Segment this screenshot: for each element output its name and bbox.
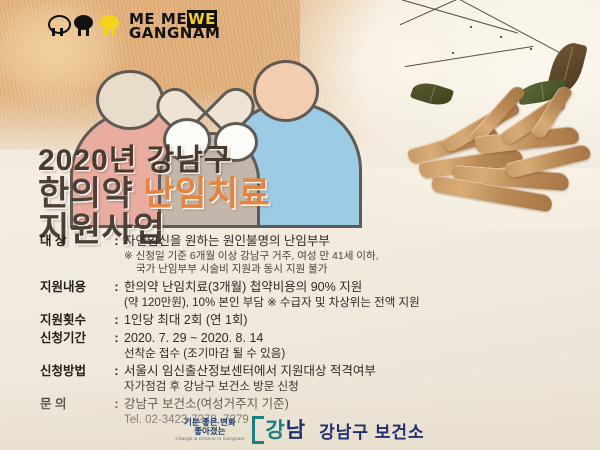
detail-row-period: 신청기간 : 2020. 7. 29 ~ 2020. 8. 14 bbox=[40, 331, 580, 346]
detail-value-count: 1인당 최대 2회 (연 1회) bbox=[121, 313, 248, 328]
leaf-vein bbox=[429, 86, 435, 102]
detail-row-support: 지원내용 : 한의약 난임치료(3개월) 첩약비용의 90% 지원 bbox=[40, 280, 580, 295]
person-solid-black-icon bbox=[74, 15, 93, 37]
detail-label-count: 지원횟수 bbox=[40, 313, 112, 328]
detail-colon: : bbox=[112, 364, 121, 379]
detail-label-target: 대 상 bbox=[40, 234, 112, 249]
branch-node-1 bbox=[470, 26, 472, 28]
title-highlight-part: 난임치료 bbox=[143, 175, 270, 213]
poster-canvas: ME MEWE GANGNAM 2020년 강남구 한의약 난임치료 지원사업 … bbox=[0, 0, 600, 450]
slogan-line-2: 좋아졌는 bbox=[175, 427, 244, 436]
detail-label-method: 신청방법 bbox=[40, 364, 112, 379]
detail-subline-period: 선착순 접수 (조기마감 될 수 있음) bbox=[40, 347, 580, 361]
logo-char-gang: 강 bbox=[265, 420, 284, 441]
title-plain-part: 한의약 bbox=[38, 175, 143, 213]
logo-wordmark: ME MEWE GANGNAM bbox=[129, 12, 220, 41]
person-head bbox=[74, 15, 93, 30]
detail-value-target: 자연임신을 원하는 원인불명의 난임부부 bbox=[121, 234, 330, 249]
detail-subline-support: (약 120만원), 10% 본인 부담 ※ 수급자 및 차상위는 전액 지원 bbox=[40, 296, 580, 310]
health-center-name: 강남구 보건소 bbox=[319, 418, 425, 443]
detail-row-method: 신청방법 : 서울시 임신출산정보센터에서 지원대상 적격여부 bbox=[40, 364, 580, 379]
branch-node-4 bbox=[452, 52, 454, 54]
person-head bbox=[100, 15, 119, 30]
person-leg bbox=[112, 28, 115, 36]
detail-colon: : bbox=[112, 313, 121, 328]
detail-value-method: 서울시 임신출산정보센터에서 지원대상 적격여부 bbox=[121, 364, 376, 379]
person-leg bbox=[104, 28, 107, 36]
gangnam-logo-mark: 강 남 bbox=[252, 416, 305, 444]
detail-value-period: 2020. 7. 29 ~ 2020. 8. 14 bbox=[121, 331, 263, 346]
branch-node-2 bbox=[500, 36, 502, 38]
logo-line-2: GANGNAM bbox=[129, 26, 220, 40]
person-solid-yellow-icon bbox=[100, 15, 119, 37]
figure-head-beige bbox=[96, 70, 164, 130]
leaf-vein bbox=[541, 84, 544, 101]
person-leg bbox=[60, 28, 63, 36]
detail-value-support: 한의약 난임치료(3개월) 첩약비용의 90% 지원 bbox=[121, 280, 362, 295]
person-leg bbox=[78, 28, 81, 36]
person-leg bbox=[52, 28, 55, 36]
detail-colon: : bbox=[112, 280, 121, 295]
person-leg bbox=[86, 28, 89, 36]
slogan-english: Change & Chance in Gangnam bbox=[175, 437, 244, 442]
branch-node-3 bbox=[530, 48, 532, 50]
footer-logo-block: 기분 좋은 변화 좋아졌는 Change & Chance in Gangnam… bbox=[0, 410, 600, 450]
me-me-we-gangnam-logo: ME MEWE GANGNAM bbox=[48, 12, 220, 41]
title-line-year: 2020년 강남구 bbox=[38, 146, 458, 176]
logo-figures bbox=[48, 15, 119, 37]
title-line-main: 한의약 난임치료 bbox=[38, 177, 458, 213]
gangnam-slogan: 기분 좋은 변화 좋아졌는 Change & Chance in Gangnam bbox=[175, 418, 244, 442]
detail-note-target-1: ※ 신청일 기준 6개월 이상 강남구 거주, 여성 만 41세 이하, bbox=[40, 250, 580, 264]
detail-note-target-2: 국가 난임부부 시술비 지원과 동시 지원 불가 bbox=[40, 263, 580, 277]
detail-colon: : bbox=[112, 234, 121, 249]
logo-char-nam: 남 bbox=[286, 420, 305, 441]
detail-label-support: 지원내용 bbox=[40, 280, 112, 295]
detail-colon: : bbox=[112, 331, 121, 346]
logo-bracket bbox=[252, 416, 264, 444]
detail-row-count: 지원횟수 : 1인당 최대 2회 (연 1회) bbox=[40, 313, 580, 328]
person-outline-icon bbox=[48, 15, 67, 37]
detail-label-period: 신청기간 bbox=[40, 331, 112, 346]
detail-row-target: 대 상 : 자연임신을 원하는 원인불명의 난임부부 bbox=[40, 234, 580, 249]
figure-head-skin bbox=[253, 60, 319, 122]
